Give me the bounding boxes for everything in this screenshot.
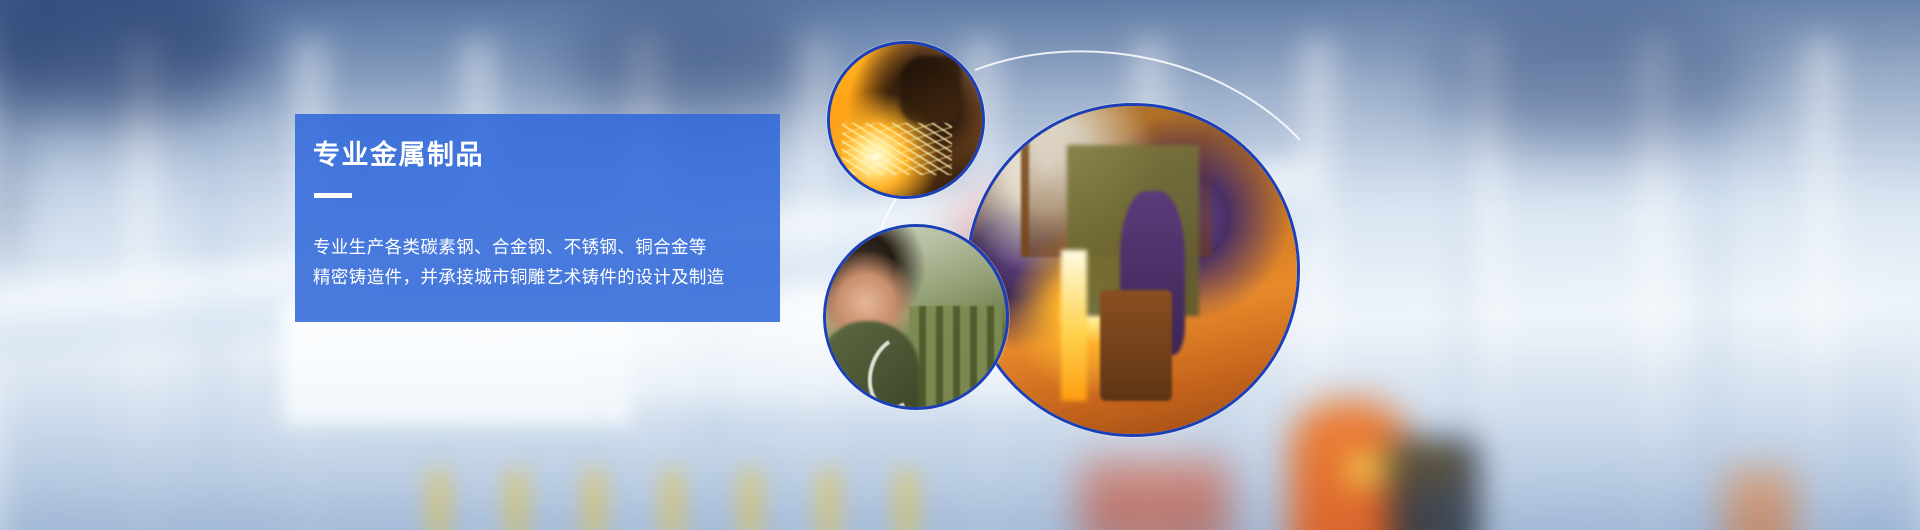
hero-banner: 专业金属制品 专业生产各类碳素钢、合金钢、不锈钢、铜合金等 精密铸造件，并承接城… bbox=[0, 0, 1920, 530]
description-line-1: 专业生产各类碳素钢、合金钢、不锈钢、铜合金等 bbox=[313, 232, 833, 262]
foundry-photo bbox=[969, 106, 1297, 434]
operator-photo bbox=[826, 227, 1006, 407]
welding-photo bbox=[830, 44, 982, 196]
text-panel: 专业金属制品 专业生产各类碳素钢、合金钢、不锈钢、铜合金等 精密铸造件，并承接城… bbox=[295, 114, 780, 322]
foundry-ladle bbox=[1100, 290, 1172, 402]
title-divider bbox=[314, 193, 352, 198]
photo-circle-welding bbox=[827, 41, 985, 199]
welding-sparks bbox=[842, 123, 951, 175]
welding-torch bbox=[900, 56, 961, 123]
foundry-molten-pour bbox=[1061, 250, 1087, 401]
photo-circle-operator bbox=[823, 224, 1009, 410]
description-text: 专业生产各类碳素钢、合金钢、不锈钢、铜合金等 精密铸造件，并承接城市铜雕艺术铸件… bbox=[313, 232, 833, 292]
description-line-2: 精密铸造件，并承接城市铜雕艺术铸件的设计及制造 bbox=[313, 262, 833, 292]
page-title: 专业金属制品 bbox=[313, 139, 484, 171]
photo-circle-foundry bbox=[966, 103, 1300, 437]
